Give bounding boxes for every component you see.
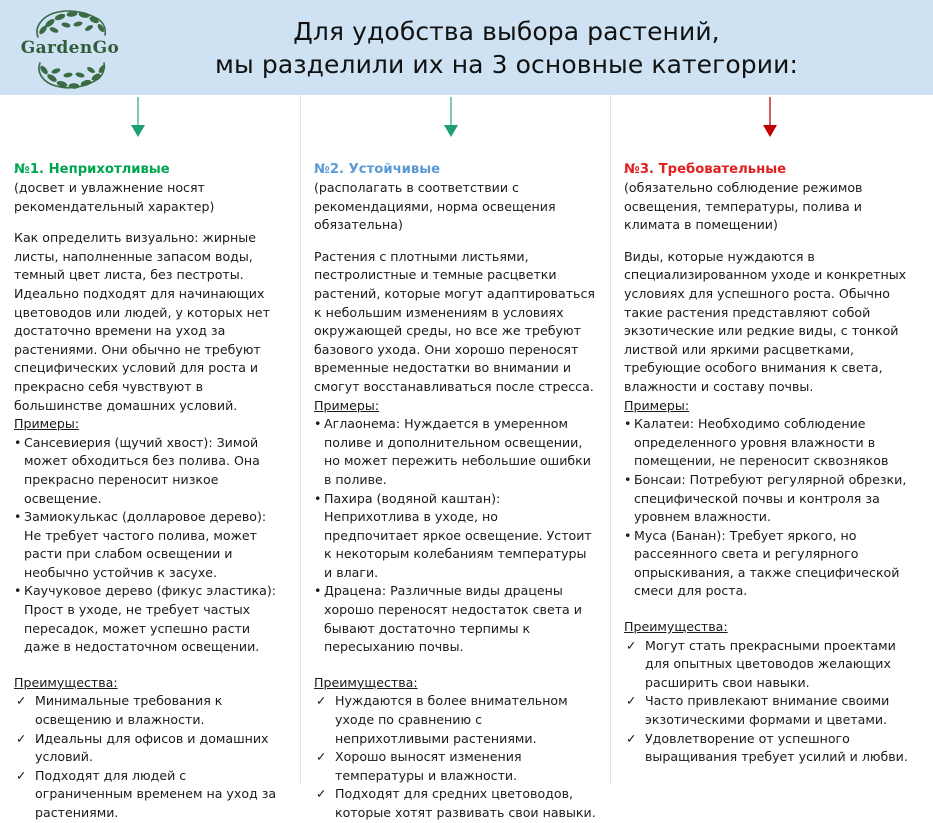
- check-icon: ✓: [626, 637, 636, 656]
- category-2-advantages: Преимущества: ✓Нуждаются в более внимате…: [314, 674, 596, 823]
- list-item-text: Подходят для средних цветоводов, которые…: [335, 786, 596, 820]
- category-3-advantages: Преимущества: ✓Могут стать прекрасными п…: [624, 618, 919, 767]
- category-2-advantages-label: Преимущества:: [314, 674, 596, 693]
- logo-wordmark: GardenGo: [21, 38, 120, 58]
- bullet-icon: •: [624, 527, 631, 546]
- list-item-text: Бонсаи: Потребуют регулярной обрезки, сп…: [634, 472, 906, 524]
- category-2-advantages-list: ✓Нуждаются в более внимательном уходе по…: [314, 692, 596, 822]
- check-icon: ✓: [316, 785, 326, 804]
- list-item: ✓Удовлетворение от успешного выращивания…: [624, 730, 919, 767]
- list-item-text: Удовлетворение от успешного выращивания …: [645, 731, 908, 765]
- list-item-text: Каучуковое дерево (фикус эластика): Прос…: [24, 583, 276, 654]
- laurel-wreath-icon: GardenGo: [10, 5, 130, 91]
- bullet-icon: •: [314, 415, 321, 434]
- bullet-icon: •: [314, 582, 321, 601]
- check-icon: ✓: [16, 692, 26, 711]
- list-item: •Замиокулькас (долларовое дерево): Не тр…: [14, 508, 286, 582]
- check-icon: ✓: [16, 730, 26, 749]
- list-item-text: Пахира (водяной каштан): Неприхотлива в …: [324, 491, 592, 580]
- category-1-body: Как определить визуально: жирные листы, …: [14, 229, 286, 415]
- category-1-examples-label: Примеры:: [14, 415, 286, 434]
- category-2-heading: №2. Устойчивые: [314, 160, 596, 179]
- list-item-text: Идеальны для офисов и домашних условий.: [35, 731, 269, 765]
- list-item-text: Калатеи: Необходимо соблюдение определен…: [634, 416, 888, 468]
- list-item: •Каучуковое дерево (фикус эластика): Про…: [14, 582, 286, 656]
- category-column-3: №3. Требовательные (обязательно соблюден…: [610, 95, 933, 800]
- list-item: ✓Хорошо выносят изменения температуры и …: [314, 748, 596, 785]
- category-1-examples-list: •Сансевиерия (щучий хвост): Зимой может …: [14, 434, 286, 657]
- category-column-2: №2. Устойчивые (располагать в соответств…: [300, 95, 610, 800]
- list-item-text: Замиокулькас (долларовое дерево): Не тре…: [24, 509, 266, 580]
- check-icon: ✓: [316, 692, 326, 711]
- list-item-text: Могут стать прекрасными проектами для оп…: [645, 638, 896, 690]
- list-item: ✓Подходят для средних цветоводов, которы…: [314, 785, 596, 822]
- list-item: •Драцена: Различные виды драцены хорошо …: [314, 582, 596, 656]
- list-item-text: Муса (Банан): Требует яркого, но рассеян…: [634, 528, 899, 599]
- list-item: •Сансевиерия (щучий хвост): Зимой может …: [14, 434, 286, 508]
- category-2-body: Растения с плотными листьями, пестролист…: [314, 248, 596, 397]
- list-item: •Аглаонема: Нуждается в умеренном поливе…: [314, 415, 596, 489]
- page-title-line-1: Для удобства выбора растений,: [140, 15, 873, 48]
- list-item-text: Хорошо выносят изменения температуры и в…: [335, 749, 522, 783]
- category-3-subtitle: (обязательно соблюдение режимов освещени…: [624, 179, 919, 235]
- list-item: •Калатеи: Необходимо соблюдение определе…: [624, 415, 919, 471]
- list-item: ✓Минимальные требования к освещению и вл…: [14, 692, 286, 729]
- list-item: ✓Подходят для людей с ограниченным време…: [14, 767, 286, 823]
- page-title: Для удобства выбора растений, мы раздели…: [140, 15, 933, 81]
- category-1-advantages: Преимущества: ✓Минимальные требования к …: [14, 674, 286, 823]
- category-column-1: №1. Неприхотливые (досвет и увлажнение н…: [0, 95, 300, 800]
- list-item: •Бонсаи: Потребуют регулярной обрезки, с…: [624, 471, 919, 527]
- category-1-heading: №1. Неприхотливые: [14, 160, 286, 179]
- bullet-icon: •: [624, 415, 631, 434]
- category-2-subtitle: (располагать в соответствии с рекомендац…: [314, 179, 596, 235]
- check-icon: ✓: [316, 748, 326, 767]
- list-item-text: Часто привлекают внимание своими экзотич…: [645, 693, 889, 727]
- category-3-examples-label: Примеры:: [624, 397, 919, 416]
- list-item-text: Подходят для людей с ограниченным времен…: [35, 768, 276, 820]
- brand-logo: GardenGo: [0, 0, 140, 95]
- bullet-icon: •: [14, 434, 21, 453]
- list-item: ✓Идеальны для офисов и домашних условий.: [14, 730, 286, 767]
- check-icon: ✓: [626, 730, 636, 749]
- bullet-icon: •: [314, 490, 321, 509]
- list-item: •Муса (Банан): Требует яркого, но рассея…: [624, 527, 919, 601]
- check-icon: ✓: [16, 767, 26, 786]
- category-3-advantages-label: Преимущества:: [624, 618, 919, 637]
- category-3-heading: №3. Требовательные: [624, 160, 919, 179]
- category-3-body: Виды, которые нуждаются в специализирова…: [624, 248, 919, 397]
- page-title-line-2: мы разделили их на 3 основные категории:: [140, 48, 873, 81]
- list-item: •Пахира (водяной каштан): Неприхотлива в…: [314, 490, 596, 583]
- category-1-advantages-label: Преимущества:: [14, 674, 286, 693]
- bullet-icon: •: [14, 508, 21, 527]
- list-item: ✓Могут стать прекрасными проектами для о…: [624, 637, 919, 693]
- bullet-icon: •: [624, 471, 631, 490]
- bullet-icon: •: [14, 582, 21, 601]
- list-item: ✓Нуждаются в более внимательном уходе по…: [314, 692, 596, 748]
- list-item-text: Сансевиерия (щучий хвост): Зимой может о…: [24, 435, 260, 506]
- category-columns: №1. Неприхотливые (досвет и увлажнение н…: [0, 95, 933, 800]
- category-2-examples-label: Примеры:: [314, 397, 596, 416]
- category-1-advantages-list: ✓Минимальные требования к освещению и вл…: [14, 692, 286, 822]
- category-3-advantages-list: ✓Могут стать прекрасными проектами для о…: [624, 637, 919, 767]
- list-item-text: Минимальные требования к освещению и вла…: [35, 693, 222, 727]
- category-3-examples-list: •Калатеи: Необходимо соблюдение определе…: [624, 415, 919, 601]
- infographic-page: GardenGo Для удобства выбора растений, м…: [0, 0, 933, 800]
- list-item: ✓Часто привлекают внимание своими экзоти…: [624, 692, 919, 729]
- header-bar: GardenGo Для удобства выбора растений, м…: [0, 0, 933, 95]
- list-item-text: Нуждаются в более внимательном уходе по …: [335, 693, 568, 745]
- check-icon: ✓: [626, 692, 636, 711]
- category-1-subtitle: (досвет и увлажнение носят рекомендатель…: [14, 179, 286, 216]
- category-2-examples-list: •Аглаонема: Нуждается в умеренном поливе…: [314, 415, 596, 657]
- list-item-text: Аглаонема: Нуждается в умеренном поливе …: [324, 416, 591, 487]
- list-item-text: Драцена: Различные виды драцены хорошо п…: [324, 583, 582, 654]
